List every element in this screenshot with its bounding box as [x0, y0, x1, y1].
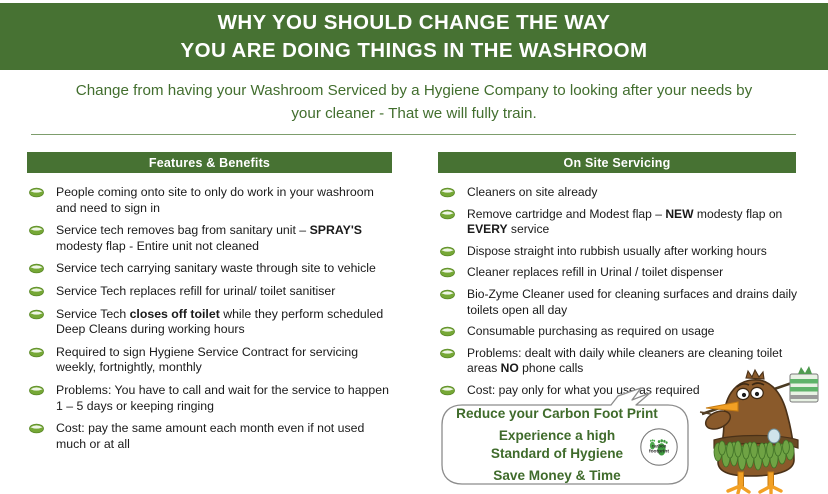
emphasis-text: NO	[501, 361, 519, 375]
bundle-icon	[790, 366, 818, 402]
leaf-bullet-icon	[440, 246, 455, 257]
title-line-1: WHY YOU SHOULD CHANGE THE WAY	[218, 9, 611, 37]
leaf-bullet-icon	[440, 267, 455, 278]
left-column-header: Features & Benefits	[27, 152, 392, 173]
leaf-bullet-icon	[29, 309, 44, 320]
features-benefits-list: People coming onto site to only do work …	[27, 185, 392, 452]
leaf-bullet-icon	[29, 263, 44, 274]
list-item: Dispose straight into rubbish usually af…	[438, 244, 803, 260]
emphasis-text: SPRAY'S	[310, 223, 362, 237]
right-column-header: On Site Servicing	[438, 152, 796, 173]
list-item-text: Service Tech closes off toilet while the…	[56, 307, 383, 337]
carbon-footprint-badge-icon: carbon footprint	[639, 427, 679, 467]
list-item: Service Tech closes off toilet while the…	[27, 307, 392, 338]
kiwi-bird-mascot	[694, 362, 826, 494]
subtitle-line-1: Change from having your Washroom Service…	[30, 79, 798, 102]
list-item-text: Cleaners on site already	[467, 185, 597, 199]
callout-line-1: Reduce your Carbon Foot Print	[446, 405, 668, 423]
list-item: Remove cartridge and Modest flap – NEW m…	[438, 207, 803, 238]
list-item: Cleaners on site already	[438, 185, 803, 201]
title-banner: WHY YOU SHOULD CHANGE THE WAY YOU ARE DO…	[0, 3, 828, 70]
list-item-text: Cost: pay the same amount each month eve…	[56, 421, 364, 451]
list-item-text: Bio-Zyme Cleaner used for cleaning surfa…	[467, 287, 797, 317]
leaf-bullet-icon	[29, 423, 44, 434]
list-item: Required to sign Hygiene Service Contrac…	[27, 345, 392, 376]
list-item: Problems: You have to call and wait for …	[27, 383, 392, 414]
emphasis-text: EVERY	[467, 222, 508, 236]
leaf-bullet-icon	[440, 209, 455, 220]
features-benefits-column: Features & Benefits People coming onto s…	[27, 152, 392, 459]
list-item-text: People coming onto site to only do work …	[56, 185, 374, 215]
list-item-text: Service tech removes bag from sanitary u…	[56, 223, 362, 253]
leaf-bullet-icon	[440, 289, 455, 300]
badge-label-carbon: carbon	[652, 444, 667, 449]
speech-bubble-callout: Reduce your Carbon Foot Print Experience…	[436, 387, 694, 487]
callout-line-4: Save Money & Time	[446, 467, 668, 485]
list-item-text: Service Tech replaces refill for urinal/…	[56, 284, 335, 298]
leaf-bullet-icon	[440, 187, 455, 198]
list-item: Cost: pay the same amount each month eve…	[27, 421, 392, 452]
horizontal-divider	[31, 134, 796, 135]
leaf-bullet-icon	[440, 326, 455, 337]
subtitle-block: Change from having your Washroom Service…	[30, 79, 798, 125]
emphasis-text: closes off toilet	[130, 307, 220, 321]
badge-label-footprint: footprint	[649, 449, 669, 455]
list-item: People coming onto site to only do work …	[27, 185, 392, 216]
list-item: Service tech removes bag from sanitary u…	[27, 223, 392, 254]
callout-text-block: Reduce your Carbon Foot Print Experience…	[446, 405, 668, 485]
list-item: Cleaner replaces refill in Urinal / toil…	[438, 265, 803, 281]
title-line-2: YOU ARE DOING THINGS IN THE WASHROOM	[181, 37, 648, 65]
list-item: Service Tech replaces refill for urinal/…	[27, 284, 392, 300]
leaf-bullet-icon	[29, 187, 44, 198]
leaf-bullet-icon	[29, 286, 44, 297]
spray-bottle-icon	[768, 429, 780, 443]
emphasis-text: NEW	[665, 207, 693, 221]
list-item: Bio-Zyme Cleaner used for cleaning surfa…	[438, 287, 803, 318]
leaf-bullet-icon	[29, 347, 44, 358]
list-item-text: Consumable purchasing as required on usa…	[467, 324, 714, 338]
callout-line-3: Standard of Hygiene	[446, 445, 668, 463]
leaf-bullet-icon	[29, 225, 44, 236]
list-item-text: Problems: You have to call and wait for …	[56, 383, 389, 413]
leaf-bullet-icon	[440, 348, 455, 359]
list-item-text: Cleaner replaces refill in Urinal / toil…	[467, 265, 723, 279]
list-item-text: Service tech carrying sanitary waste thr…	[56, 261, 376, 275]
list-item: Service tech carrying sanitary waste thr…	[27, 261, 392, 277]
subtitle-line-2: your cleaner - That we will fully train.	[30, 102, 798, 125]
list-item-text: Required to sign Hygiene Service Contrac…	[56, 345, 358, 375]
callout-line-2: Experience a high	[446, 427, 668, 445]
list-item: Consumable purchasing as required on usa…	[438, 324, 803, 340]
slide-canvas: WHY YOU SHOULD CHANGE THE WAY YOU ARE DO…	[0, 0, 828, 494]
leaf-bullet-icon	[29, 385, 44, 396]
list-item-text: Dispose straight into rubbish usually af…	[467, 244, 767, 258]
list-item-text: Remove cartridge and Modest flap – NEW m…	[467, 207, 782, 237]
